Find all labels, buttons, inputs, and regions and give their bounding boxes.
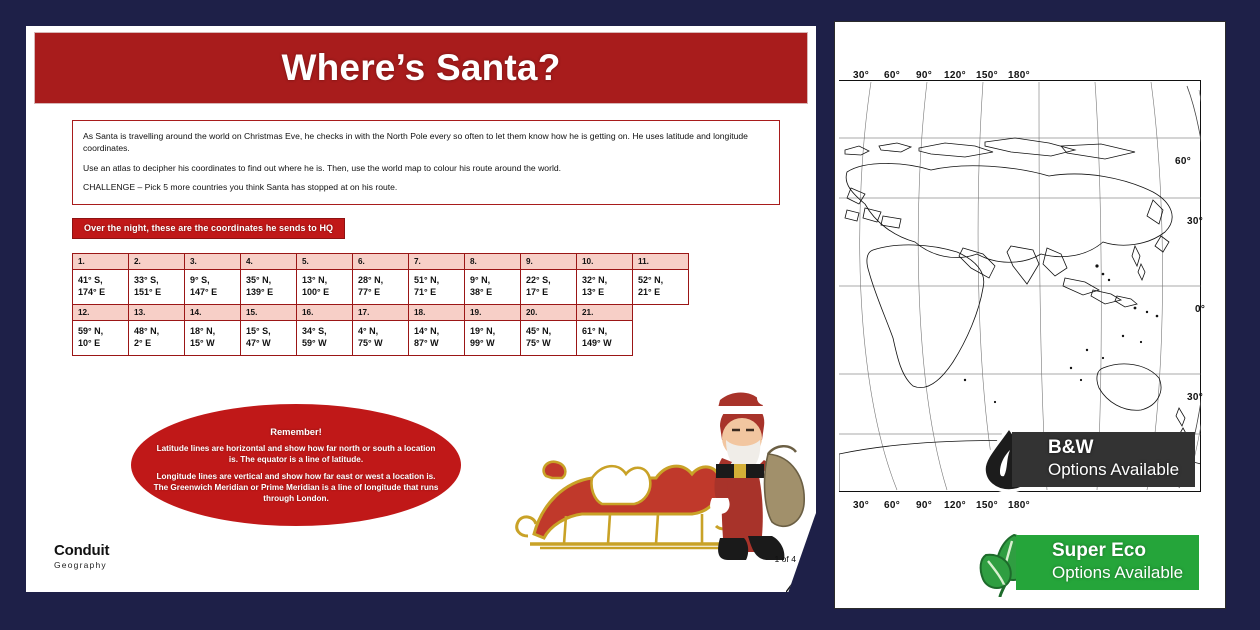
table-cell-number: 19. [465, 305, 521, 321]
map-right-label-0: 0° [1195, 304, 1205, 315]
table-cell-number: 12. [73, 305, 129, 321]
super-eco-badge[interactable]: Super Eco Options Available [978, 527, 1199, 597]
table-cell-coordinate: 32° N, 13° E [577, 270, 633, 305]
table-cell-number: 9. [521, 254, 577, 270]
coordinates-banner: Over the night, these are the coordinate… [72, 218, 345, 239]
table-cell-number: 5. [297, 254, 353, 270]
eco-badge-plate: Super Eco Options Available [1016, 535, 1199, 590]
table-cell-empty [633, 305, 689, 321]
map-top-label-90: 90° [916, 70, 932, 81]
santa-icon [710, 391, 804, 560]
map-bottom-label-30: 30° [853, 500, 869, 511]
table-cell-coordinate: 18° N, 15° W [185, 321, 241, 356]
table-cell-coordinate: 13° N, 100° E [297, 270, 353, 305]
screenshot-stage: 30° 60° 90° 120° 150° 180° 30° 60° 90° 1… [0, 0, 1260, 630]
table-cell-number: 10. [577, 254, 633, 270]
table-cell-number: 4. [241, 254, 297, 270]
table-cell-number: 13. [129, 305, 185, 321]
table-cell-coordinate: 19° N, 99° W [465, 321, 521, 356]
worksheet-page[interactable]: Where’s Santa? As Santa is travelling ar… [26, 26, 816, 592]
table-cell-coordinate: 15° S, 47° W [241, 321, 297, 356]
table-cell-coordinate: 22° S, 17° E [521, 270, 577, 305]
coordinates-table: 1. 2. 3. 4. 5. 6. 7. 8. 9. 10. 11. 41° S… [72, 253, 689, 356]
table-cell-coordinate: 51° N, 71° E [409, 270, 465, 305]
table-cell-number: 16. [297, 305, 353, 321]
table-cell-coordinate: 45° N, 75° W [521, 321, 577, 356]
table-cell-number: 6. [353, 254, 409, 270]
title-banner: Where’s Santa? [34, 32, 808, 104]
remember-paragraph-longitude: Longitude lines are vertical and show ho… [153, 471, 439, 504]
table-cell-number: 11. [633, 254, 689, 270]
table-cell-coordinate: 48° N, 2° E [129, 321, 185, 356]
table-cell-number: 18. [409, 305, 465, 321]
map-top-label-150: 150° [976, 70, 998, 81]
table-cell-number: 7. [409, 254, 465, 270]
instruction-paragraph-2: Use an atlas to decipher his coordinates… [83, 162, 769, 174]
remember-callout: Remember! Latitude lines are horizontal … [131, 404, 461, 526]
table-header-row-2: 12. 13. 14. 15. 16. 17. 18. 19. 20. 21. [73, 305, 689, 321]
table-cell-coordinate: 28° N, 77° E [353, 270, 409, 305]
page-number: 1 of 4 [774, 554, 796, 564]
table-cell-coordinate: 9° N, 38° E [465, 270, 521, 305]
santa-sleigh-illustration [506, 386, 816, 564]
bw-badge-line2: Options Available [1048, 460, 1179, 480]
map-right-label-60n: 60° [1175, 156, 1191, 167]
bw-options-badge[interactable]: B&W Options Available [978, 424, 1195, 494]
bw-badge-line1: B&W [1048, 437, 1179, 459]
table-cell-coordinate: 41° S, 174° E [73, 270, 129, 305]
table-cell-coordinate: 59° N, 10° E [73, 321, 129, 356]
table-cell-coordinate: 9° S, 147° E [185, 270, 241, 305]
table-cell-coordinate: 4° N, 75° W [353, 321, 409, 356]
brand-subject: Geography [54, 560, 109, 570]
map-bottom-label-180: 180° [1008, 500, 1030, 511]
map-right-label-30n: 30° [1187, 216, 1203, 227]
instructions-box: As Santa is travelling around the world … [72, 120, 780, 205]
table-cell-coordinate: 61° N, 149° W [577, 321, 633, 356]
map-bottom-label-90: 90° [916, 500, 932, 511]
table-value-row-2: 59° N, 10° E 48° N, 2° E 18° N, 15° W 15… [73, 321, 689, 356]
map-top-label-120: 120° [944, 70, 966, 81]
table-cell-number: 1. [73, 254, 129, 270]
table-cell-number: 15. [241, 305, 297, 321]
instruction-paragraph-3: CHALLENGE – Pick 5 more countries you th… [83, 181, 769, 193]
map-top-label-180: 180° [1008, 70, 1030, 81]
table-cell-number: 2. [129, 254, 185, 270]
table-cell-number: 14. [185, 305, 241, 321]
map-right-label-30s: 30° [1187, 392, 1203, 403]
map-bottom-label-150: 150° [976, 500, 998, 511]
brand-logo: Conduit Geography [54, 542, 109, 570]
brand-name: Conduit [54, 542, 109, 559]
table-header-row-1: 1. 2. 3. 4. 5. 6. 7. 8. 9. 10. 11. [73, 254, 689, 270]
table-cell-number: 21. [577, 305, 633, 321]
table-cell-number: 8. [465, 254, 521, 270]
table-cell-number: 20. [521, 305, 577, 321]
map-top-label-60: 60° [884, 70, 900, 81]
world-map-page[interactable]: 30° 60° 90° 120° 150° 180° 30° 60° 90° 1… [835, 22, 1225, 608]
map-bottom-label-120: 120° [944, 500, 966, 511]
eco-badge-line2: Options Available [1052, 563, 1183, 583]
table-cell-number: 3. [185, 254, 241, 270]
bw-badge-plate: B&W Options Available [1012, 432, 1195, 487]
map-bottom-label-60: 60° [884, 500, 900, 511]
table-cell-empty [633, 321, 689, 356]
table-cell-coordinate: 34° S, 59° W [297, 321, 353, 356]
remember-paragraph-latitude: Latitude lines are horizontal and show h… [153, 443, 439, 465]
map-top-label-30: 30° [853, 70, 869, 81]
table-cell-coordinate: 14° N, 87° W [409, 321, 465, 356]
instruction-paragraph-1: As Santa is travelling around the world … [83, 130, 769, 155]
table-cell-number: 17. [353, 305, 409, 321]
remember-title: Remember! [270, 426, 322, 437]
table-value-row-1: 41° S, 174° E 33° S, 151° E 9° S, 147° E… [73, 270, 689, 305]
page-title: Where’s Santa? [282, 47, 561, 89]
table-cell-coordinate: 52° N, 21° E [633, 270, 689, 305]
table-cell-coordinate: 35° N, 139° E [241, 270, 297, 305]
table-cell-coordinate: 33° S, 151° E [129, 270, 185, 305]
eco-badge-line1: Super Eco [1052, 540, 1183, 562]
